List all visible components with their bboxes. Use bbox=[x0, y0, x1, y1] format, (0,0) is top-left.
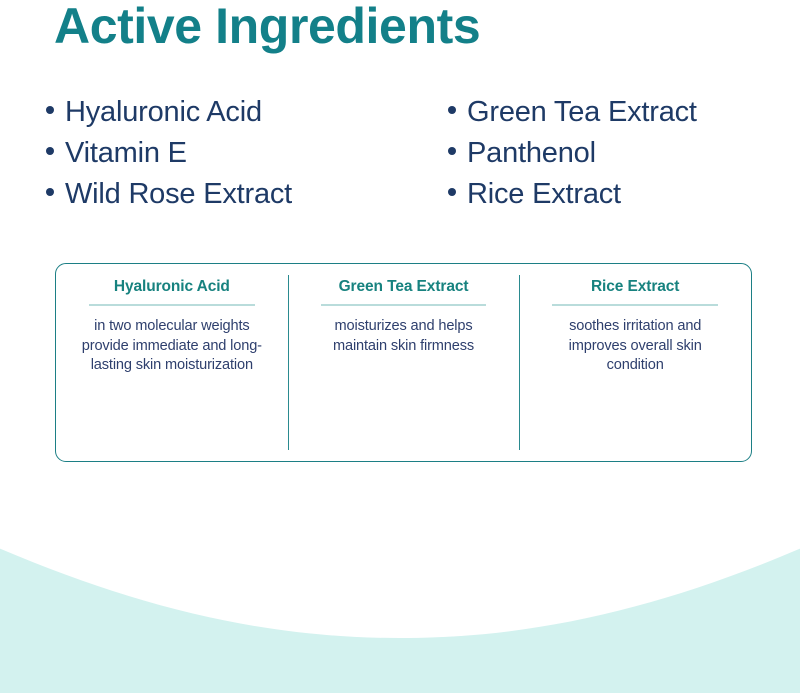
list-item: Rice Extract bbox=[448, 178, 697, 219]
list-item: Green Tea Extract bbox=[448, 96, 697, 137]
ingredient-label: Panthenol bbox=[467, 137, 596, 170]
benefit-column-rice-extract: Rice Extract soothes irritation and impr… bbox=[519, 264, 751, 461]
bullet-icon bbox=[448, 188, 456, 196]
page-title: Active Ingredients bbox=[54, 0, 480, 58]
benefit-divider-rule bbox=[89, 304, 255, 306]
bullet-icon bbox=[46, 147, 54, 155]
benefit-description: soothes irritation and improves overall … bbox=[535, 317, 735, 376]
ingredient-label: Wild Rose Extract bbox=[65, 178, 292, 211]
list-item: Hyaluronic Acid bbox=[46, 96, 292, 137]
benefit-column-hyaluronic-acid: Hyaluronic Acid in two molecular weights… bbox=[56, 264, 288, 461]
list-item: Panthenol bbox=[448, 137, 697, 178]
benefits-card: Hyaluronic Acid in two molecular weights… bbox=[55, 263, 752, 462]
benefit-title: Rice Extract bbox=[535, 277, 735, 297]
benefit-description: moisturizes and helps maintain skin firm… bbox=[304, 317, 504, 356]
bullet-icon bbox=[46, 106, 54, 114]
ingredients-list-section: Hyaluronic Acid Vitamin E Wild Rose Extr… bbox=[0, 96, 800, 226]
ingredient-label: Vitamin E bbox=[65, 137, 187, 170]
ingredients-left-column: Hyaluronic Acid Vitamin E Wild Rose Extr… bbox=[46, 96, 292, 219]
list-item: Wild Rose Extract bbox=[46, 178, 292, 219]
bullet-icon bbox=[448, 106, 456, 114]
benefit-title: Hyaluronic Acid bbox=[72, 277, 272, 297]
ingredient-label: Green Tea Extract bbox=[467, 96, 697, 129]
benefit-title: Green Tea Extract bbox=[304, 277, 504, 297]
white-curve-cutout bbox=[0, 493, 800, 638]
bullet-icon bbox=[448, 147, 456, 155]
benefit-description: in two molecular weights provide immedia… bbox=[72, 317, 272, 376]
ingredients-right-column: Green Tea Extract Panthenol Rice Extract bbox=[448, 96, 697, 219]
bottom-wave-decoration bbox=[0, 493, 800, 693]
benefit-column-green-tea-extract: Green Tea Extract moisturizes and helps … bbox=[288, 264, 520, 461]
bullet-icon bbox=[46, 188, 54, 196]
mint-band bbox=[0, 493, 800, 693]
benefit-divider-rule bbox=[552, 304, 718, 306]
page-root: Active Ingredients Hyaluronic Acid Vitam… bbox=[0, 0, 800, 693]
ingredient-label: Hyaluronic Acid bbox=[65, 96, 262, 129]
list-item: Vitamin E bbox=[46, 137, 292, 178]
benefit-divider-rule bbox=[321, 304, 487, 306]
ingredient-label: Rice Extract bbox=[467, 178, 621, 211]
